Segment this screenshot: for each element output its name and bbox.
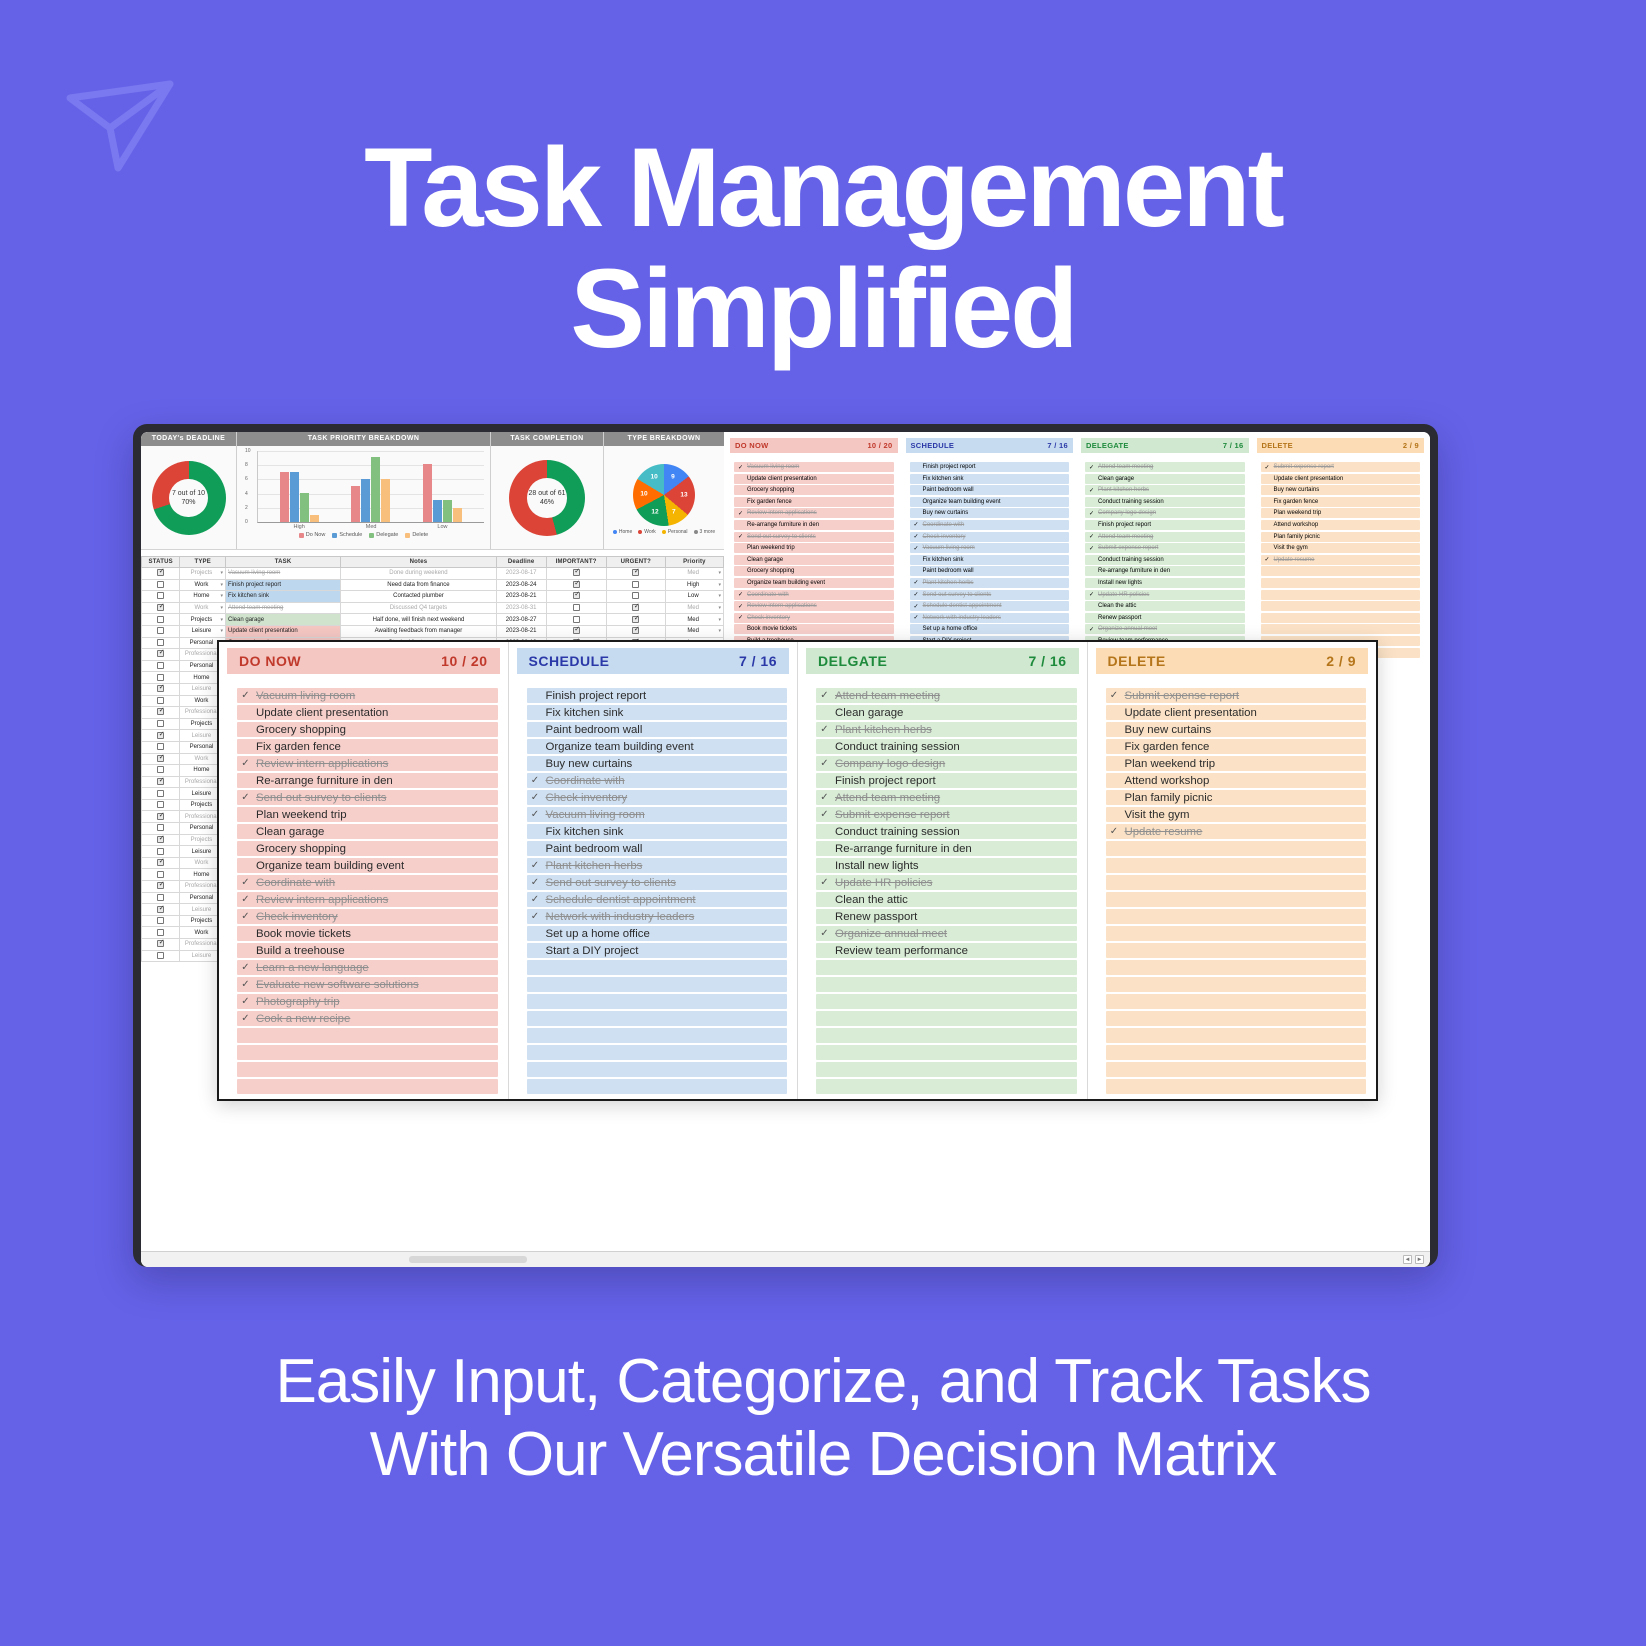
checkbox[interactable] [632, 604, 639, 611]
check-icon[interactable]: ✓ [820, 792, 829, 803]
kanban-item-empty[interactable] [527, 1028, 788, 1043]
kanban-item-empty[interactable] [816, 960, 1077, 975]
cell-status[interactable] [142, 730, 180, 742]
kanban-item[interactable]: Grocery shopping [237, 841, 498, 856]
col-header-task[interactable]: TASK [226, 557, 341, 568]
check-icon: ✓ [738, 533, 744, 540]
kanban-item-empty[interactable] [237, 1028, 498, 1043]
kanban-bg-item: ✓Review intern applications [734, 601, 894, 611]
cell-urgent[interactable] [606, 568, 665, 580]
cell-priority[interactable]: Low▾ [665, 591, 723, 603]
checkbox[interactable] [157, 836, 164, 843]
kanban-item-empty[interactable] [816, 1079, 1077, 1094]
cell-priority[interactable]: Med▾ [665, 602, 723, 614]
chevron-down-icon[interactable]: ▾ [221, 605, 224, 611]
cell-status[interactable] [142, 834, 180, 846]
kanban-item-label: Update client presentation [256, 707, 388, 719]
kanban-item-empty[interactable] [816, 977, 1077, 992]
chevron-down-icon[interactable]: ▾ [718, 605, 721, 611]
kanban-item[interactable]: ✓Vacuum living room [237, 688, 498, 703]
cell-status[interactable] [142, 672, 180, 684]
kanban-item[interactable]: ✓Send out survey to clients [237, 790, 498, 805]
checkbox[interactable] [573, 616, 580, 623]
kanban-item[interactable]: ✓Company logo design [816, 756, 1077, 771]
kanban-item-empty[interactable] [237, 1079, 498, 1094]
cell-status[interactable] [142, 857, 180, 869]
cell-status[interactable] [142, 846, 180, 858]
chevron-down-icon[interactable]: ▾ [718, 593, 721, 599]
check-icon: ✓ [1265, 464, 1271, 471]
check-icon[interactable]: ✓ [820, 877, 829, 888]
cell-priority[interactable]: High▾ [665, 579, 723, 591]
kanban-item-empty[interactable] [816, 1062, 1077, 1077]
check-icon[interactable]: ✓ [1110, 826, 1119, 837]
checkbox[interactable] [157, 627, 164, 634]
table-row[interactable]: Projects▾Vacuum living roomDone during w… [142, 568, 724, 580]
checkbox[interactable] [157, 790, 164, 797]
checkbox[interactable] [157, 766, 164, 773]
kanban-item[interactable]: Buy new curtains [527, 756, 788, 771]
cell-deadline[interactable]: 2023-08-21 [496, 625, 546, 637]
kanban-item-empty[interactable] [1106, 926, 1367, 941]
cell-task[interactable]: Clean garage [226, 614, 341, 626]
kanban-item[interactable]: ✓Check inventory [527, 790, 788, 805]
cell-priority[interactable]: Med▾ [665, 625, 723, 637]
kanban-item[interactable]: ✓Coordinate with [237, 875, 498, 890]
kanban-item-empty[interactable] [816, 994, 1077, 1009]
cell-task[interactable]: Finish project report [226, 579, 341, 591]
chevron-down-icon[interactable]: ▾ [221, 582, 224, 588]
kanban-item-empty[interactable] [1106, 1028, 1367, 1043]
cell-type[interactable]: Work▾ [180, 602, 226, 614]
checkbox[interactable] [157, 929, 164, 936]
sheet-tab-strip[interactable]: ◄ ► [141, 1251, 1430, 1267]
chevron-down-icon[interactable]: ▾ [718, 582, 721, 588]
table-row[interactable]: Projects▾Clean garageHalf done, will fin… [142, 614, 724, 626]
kanban-item-empty[interactable] [1106, 858, 1367, 873]
cell-type[interactable]: Work▾ [180, 579, 226, 591]
check-icon: ✓ [1089, 464, 1095, 471]
kanban-item-empty[interactable] [237, 1045, 498, 1060]
col-header-important[interactable]: IMPORTANT? [546, 557, 606, 568]
kanban-bg-item-label: Company logo design [1098, 510, 1156, 516]
check-icon[interactable]: ✓ [241, 911, 250, 922]
kanban-item[interactable]: ✓Attend team meeting [816, 790, 1077, 805]
cell-notes[interactable]: Half done, will finish next weekend [341, 614, 497, 626]
checkbox[interactable] [632, 569, 639, 576]
cell-type[interactable]: Leisure▾ [180, 625, 226, 637]
kanban-item[interactable]: Clean garage [237, 824, 498, 839]
checkbox[interactable] [157, 894, 164, 901]
checkbox[interactable] [157, 592, 164, 599]
scroll-right-icon[interactable]: ► [1415, 1255, 1424, 1264]
cell-task[interactable]: Update client presentation [226, 625, 341, 637]
cell-notes[interactable]: Awaiting feedback from manager [341, 625, 497, 637]
cell-status[interactable] [142, 753, 180, 765]
checkbox[interactable] [157, 616, 164, 623]
cell-status[interactable] [142, 568, 180, 580]
check-icon[interactable]: ✓ [531, 775, 540, 786]
check-icon[interactable]: ✓ [241, 894, 250, 905]
scroll-left-icon[interactable]: ◄ [1403, 1255, 1412, 1264]
kanban-item[interactable]: ✓Review intern applications [237, 892, 498, 907]
kanban-item[interactable]: Paint bedroom wall [527, 722, 788, 737]
kanban-item-empty[interactable] [1106, 994, 1367, 1009]
decision-matrix-popup[interactable]: DO NOW10 / 20✓Vacuum living roomUpdate c… [217, 640, 1378, 1101]
kanban-item[interactable]: ✓Send out survey to clients [527, 875, 788, 890]
chevron-down-icon[interactable]: ▾ [718, 570, 721, 576]
cell-deadline[interactable]: 2023-08-24 [496, 579, 546, 591]
kanban-item[interactable]: Fix kitchen sink [527, 705, 788, 720]
checkbox[interactable] [632, 616, 639, 623]
kanban-item[interactable]: Renew passport [816, 909, 1077, 924]
kanban-item[interactable]: Clean garage [816, 705, 1077, 720]
table-row[interactable]: Work▾Attend team meetingDiscussed Q4 tar… [142, 602, 724, 614]
checkbox[interactable] [157, 871, 164, 878]
kanban-item[interactable]: Set up a home office [527, 926, 788, 941]
cell-important[interactable] [546, 625, 606, 637]
cell-important[interactable] [546, 614, 606, 626]
kanban-item[interactable]: ✓Attend team meeting [816, 688, 1077, 703]
chevron-down-icon[interactable]: ▾ [221, 617, 224, 623]
kanban-bg-item-label: Buy new curtains [923, 510, 969, 516]
kanban-item-empty[interactable] [237, 1062, 498, 1077]
kanban-item-empty[interactable] [816, 1011, 1077, 1026]
checkbox[interactable] [573, 604, 580, 611]
cell-type[interactable]: Home▾ [180, 591, 226, 603]
check-icon[interactable]: ✓ [820, 690, 829, 701]
cell-type[interactable]: Projects▾ [180, 614, 226, 626]
cell-status[interactable] [142, 579, 180, 591]
check-icon[interactable]: ✓ [241, 979, 250, 990]
cell-urgent[interactable] [606, 602, 665, 614]
kanban-item-label: Fix garden fence [1125, 741, 1210, 753]
cell-urgent[interactable] [606, 625, 665, 637]
kanban-item[interactable]: ✓Cook a new recipe [237, 1011, 498, 1026]
kanban-item[interactable]: Review team performance [816, 943, 1077, 958]
cell-deadline[interactable]: 2023-08-17 [496, 568, 546, 580]
kanban-item[interactable]: Conduct training session [816, 739, 1077, 754]
kanban-item[interactable]: Re-arrange furniture in den [237, 773, 498, 788]
checkbox[interactable] [157, 685, 164, 692]
cell-status[interactable] [142, 869, 180, 881]
cell-status[interactable] [142, 649, 180, 661]
kanban-item-label: Book movie tickets [256, 928, 351, 940]
kanban-column-dl[interactable]: DELETE2 / 9✓Submit expense reportUpdate … [1088, 642, 1377, 1099]
kanban-item[interactable]: Buy new curtains [1106, 722, 1367, 737]
cell-status[interactable] [142, 602, 180, 614]
col-header-type[interactable]: TYPE [180, 557, 226, 568]
kanban-item[interactable]: Organize team building event [527, 739, 788, 754]
check-icon[interactable]: ✓ [820, 928, 829, 939]
cell-notes[interactable]: Discussed Q4 targets [341, 602, 497, 614]
kanban-item-empty[interactable] [816, 1045, 1077, 1060]
checkbox[interactable] [573, 627, 580, 634]
panel-task-completion: TASK COMPLETION 28 out of 61 46% [491, 432, 604, 549]
checkbox[interactable] [157, 650, 164, 657]
kanban-item-empty[interactable] [1106, 875, 1367, 890]
kanban-item[interactable]: ✓Submit expense report [1106, 688, 1367, 703]
cell-status[interactable] [142, 788, 180, 800]
cell-status[interactable] [142, 915, 180, 927]
kanban-item[interactable]: ✓Update HR policies [816, 875, 1077, 890]
checkbox[interactable] [573, 569, 580, 576]
checkbox[interactable] [157, 732, 164, 739]
kanban-item-empty[interactable] [1106, 960, 1367, 975]
kanban-item[interactable]: ✓Evaluate new software solutions [237, 977, 498, 992]
kanban-item-empty[interactable] [527, 1045, 788, 1060]
chevron-down-icon[interactable]: ▾ [221, 570, 224, 576]
kanban-item[interactable]: ✓Plant kitchen herbs [527, 858, 788, 873]
kanban-item[interactable]: Grocery shopping [237, 722, 498, 737]
check-icon[interactable]: ✓ [820, 809, 829, 820]
kanban-item-empty[interactable] [1106, 909, 1367, 924]
x-tick-med: Med [366, 524, 377, 530]
check-icon: ✓ [1089, 591, 1095, 598]
cell-status[interactable] [142, 614, 180, 626]
cell-important[interactable] [546, 579, 606, 591]
kanban-column-de[interactable]: DELGATE7 / 16✓Attend team meetingClean g… [798, 642, 1088, 1099]
checkbox[interactable] [157, 639, 164, 646]
cell-status[interactable] [142, 660, 180, 672]
checkbox[interactable] [157, 859, 164, 866]
kanban-item[interactable]: ✓Learn a new language [237, 960, 498, 975]
kanban-item[interactable]: ✓Organize annual meet [816, 926, 1077, 941]
cell-notes[interactable]: Need data from finance [341, 579, 497, 591]
checkbox[interactable] [632, 627, 639, 634]
kanban-item[interactable]: Clean the attic [816, 892, 1077, 907]
kanban-item[interactable]: Paint bedroom wall [527, 841, 788, 856]
kanban-item-empty[interactable] [1106, 1011, 1367, 1026]
cell-task[interactable]: Attend team meeting [226, 602, 341, 614]
cell-task[interactable]: Fix kitchen sink [226, 591, 341, 603]
kanban-item[interactable]: ✓Coordinate with [527, 773, 788, 788]
check-icon[interactable]: ✓ [531, 809, 540, 820]
kanban-item[interactable]: ✓Photography trip [237, 994, 498, 1009]
check-icon[interactable]: ✓ [241, 792, 250, 803]
checkbox[interactable] [573, 592, 580, 599]
kanban-bg-item-label: Install new lights [1098, 580, 1142, 586]
checkbox[interactable] [157, 662, 164, 669]
cell-status[interactable] [142, 776, 180, 788]
cell-status[interactable] [142, 811, 180, 823]
checkbox[interactable] [157, 940, 164, 947]
kanban-column-sc[interactable]: SCHEDULE7 / 16Finish project reportFix k… [509, 642, 799, 1099]
kanban-item-empty[interactable] [1106, 1079, 1367, 1094]
checkbox[interactable] [157, 604, 164, 611]
kanban-item-empty[interactable] [1106, 977, 1367, 992]
kanban-bg-item: ✓Submit expense report [1085, 543, 1245, 553]
kanban-item[interactable]: Book movie tickets [237, 926, 498, 941]
chevron-down-icon[interactable]: ▾ [718, 628, 721, 634]
cell-important[interactable] [546, 568, 606, 580]
cell-task[interactable]: Vacuum living room [226, 568, 341, 580]
col-header-status[interactable]: STATUS [142, 557, 180, 568]
check-icon[interactable]: ✓ [531, 894, 540, 905]
cell-status[interactable] [142, 892, 180, 904]
kanban-item-empty[interactable] [527, 1079, 788, 1094]
check-icon[interactable]: ✓ [820, 724, 829, 735]
kanban-item[interactable]: Plan weekend trip [1106, 756, 1367, 771]
kanban-item-empty[interactable] [527, 994, 788, 1009]
check-icon[interactable]: ✓ [531, 877, 540, 888]
col-header-priority[interactable]: Priority [665, 557, 723, 568]
kanban-item-empty[interactable] [527, 1062, 788, 1077]
cell-status[interactable] [142, 625, 180, 637]
kanban-item[interactable]: Re-arrange furniture in den [816, 841, 1077, 856]
cell-deadline[interactable]: 2023-08-27 [496, 614, 546, 626]
kanban-item-label: Set up a home office [546, 928, 650, 940]
kanban-item[interactable]: Fix garden fence [1106, 739, 1367, 754]
checkbox[interactable] [157, 952, 164, 959]
kanban-item[interactable]: Visit the gym [1106, 807, 1367, 822]
kanban-item[interactable]: Fix kitchen sink [527, 824, 788, 839]
kanban-item-empty[interactable] [527, 977, 788, 992]
kanban-item[interactable]: Organize team building event [237, 858, 498, 873]
cell-status[interactable] [142, 718, 180, 730]
cell-status[interactable] [142, 939, 180, 951]
checkbox[interactable] [157, 824, 164, 831]
table-row[interactable]: Work▾Finish project reportNeed data from… [142, 579, 724, 591]
cell-important[interactable] [546, 602, 606, 614]
check-icon[interactable]: ✓ [531, 860, 540, 871]
checkbox[interactable] [157, 581, 164, 588]
check-icon[interactable]: ✓ [241, 690, 250, 701]
kanban-item[interactable]: ✓Update resume [1106, 824, 1367, 839]
kanban-item[interactable]: ✓Vacuum living room [527, 807, 788, 822]
col-header-notes[interactable]: Notes [341, 557, 497, 568]
cell-status[interactable] [142, 950, 180, 962]
check-icon[interactable]: ✓ [241, 1013, 250, 1024]
check-icon[interactable]: ✓ [531, 792, 540, 803]
checkbox[interactable] [632, 581, 639, 588]
check-icon[interactable]: ✓ [1110, 690, 1119, 701]
checkbox[interactable] [157, 848, 164, 855]
checkbox[interactable] [157, 906, 164, 913]
kanban-item[interactable]: Finish project report [527, 688, 788, 703]
cell-status[interactable] [142, 591, 180, 603]
check-icon[interactable]: ✓ [241, 758, 250, 769]
checkbox[interactable] [573, 581, 580, 588]
kanban-item-empty[interactable] [1106, 1062, 1367, 1077]
kanban-item-empty[interactable] [527, 960, 788, 975]
cell-notes[interactable]: Done during weekend [341, 568, 497, 580]
cell-urgent[interactable] [606, 591, 665, 603]
cell-status[interactable] [142, 695, 180, 707]
kanban-item[interactable]: Start a DIY project [527, 943, 788, 958]
horizontal-scrollbar[interactable] [409, 1256, 527, 1263]
checkbox[interactable] [157, 882, 164, 889]
checkbox[interactable] [157, 755, 164, 762]
kanban-item[interactable]: Attend workshop [1106, 773, 1367, 788]
check-icon[interactable]: ✓ [241, 962, 250, 973]
cell-notes[interactable]: Contacted plumber [341, 591, 497, 603]
cell-status[interactable] [142, 927, 180, 939]
kanban-item[interactable]: Plan weekend trip [237, 807, 498, 822]
kanban-item-empty[interactable] [1106, 841, 1367, 856]
kanban-item[interactable]: ✓Network with industry leaders [527, 909, 788, 924]
kanban-column-do[interactable]: DO NOW10 / 20✓Vacuum living roomUpdate c… [219, 642, 509, 1099]
kanban-bg-item-label: Schedule dentist appointment [923, 603, 1002, 609]
cell-status[interactable] [142, 823, 180, 835]
checkbox[interactable] [157, 697, 164, 704]
cell-status[interactable] [142, 683, 180, 695]
check-icon[interactable]: ✓ [820, 758, 829, 769]
col-header-urgent[interactable]: URGENT? [606, 557, 665, 568]
checkbox[interactable] [632, 592, 639, 599]
kanban-item[interactable]: Update client presentation [237, 705, 498, 720]
kanban-item[interactable]: Finish project report [816, 773, 1077, 788]
col-header-deadline[interactable]: Deadline [496, 557, 546, 568]
table-row[interactable]: Home▾Fix kitchen sinkContacted plumber20… [142, 591, 724, 603]
checkbox[interactable] [157, 813, 164, 820]
cell-status[interactable] [142, 637, 180, 649]
cell-urgent[interactable] [606, 579, 665, 591]
check-icon[interactable]: ✓ [241, 877, 250, 888]
kanban-item[interactable]: ✓Review intern applications [237, 756, 498, 771]
cell-priority[interactable]: Med▾ [665, 614, 723, 626]
kanban-item[interactable]: Update client presentation [1106, 705, 1367, 720]
kanban-item-empty[interactable] [1106, 1045, 1367, 1060]
kanban-item[interactable]: Install new lights [816, 858, 1077, 873]
kanban-item-empty[interactable] [816, 1028, 1077, 1043]
check-icon[interactable]: ✓ [531, 911, 540, 922]
cell-status[interactable] [142, 799, 180, 811]
cell-status[interactable] [142, 741, 180, 753]
cell-deadline[interactable]: 2023-08-21 [496, 591, 546, 603]
kanban-item-empty[interactable] [1106, 943, 1367, 958]
cell-deadline[interactable]: 2023-08-31 [496, 602, 546, 614]
checkbox[interactable] [157, 674, 164, 681]
checkbox[interactable] [157, 569, 164, 576]
checkbox[interactable] [157, 743, 164, 750]
checkbox[interactable] [157, 720, 164, 727]
cell-status[interactable] [142, 881, 180, 893]
chevron-down-icon[interactable]: ▾ [221, 593, 224, 599]
kanban-item[interactable]: Fix garden fence [237, 739, 498, 754]
kanban-item[interactable]: ✓Check inventory [237, 909, 498, 924]
check-icon[interactable]: ✓ [241, 996, 250, 1007]
cell-type[interactable]: Projects▾ [180, 568, 226, 580]
checkbox[interactable] [157, 917, 164, 924]
cell-priority[interactable]: Med▾ [665, 568, 723, 580]
kanban-item[interactable]: ✓Submit expense report [816, 807, 1077, 822]
kanban-item[interactable]: ✓Schedule dentist appointment [527, 892, 788, 907]
kanban-item-empty[interactable] [1106, 892, 1367, 907]
kanban-item[interactable]: Conduct training session [816, 824, 1077, 839]
checkbox[interactable] [157, 778, 164, 785]
table-row[interactable]: Leisure▾Update client presentationAwaiti… [142, 625, 724, 637]
kanban-item[interactable]: Build a treehouse [237, 943, 498, 958]
kanban-item-empty[interactable] [527, 1011, 788, 1026]
kanban-bg-item-label: Set up a home office [923, 626, 978, 632]
kanban-bg-item-label: Clean garage [747, 557, 783, 563]
cell-status[interactable] [142, 765, 180, 777]
checkbox[interactable] [157, 708, 164, 715]
checkbox[interactable] [157, 801, 164, 808]
kanban-item-label: Evaluate new software solutions [256, 979, 419, 991]
chevron-down-icon[interactable]: ▾ [221, 628, 224, 634]
kanban-bg-header-de: DELEGATE7 / 16 [1081, 438, 1249, 453]
chevron-down-icon[interactable]: ▾ [718, 617, 721, 623]
kanban-item[interactable]: Plan family picnic [1106, 790, 1367, 805]
cell-status[interactable] [142, 904, 180, 916]
cell-important[interactable] [546, 591, 606, 603]
cell-status[interactable] [142, 707, 180, 719]
completion-donut-chart: 28 out of 61 46% [509, 460, 585, 536]
cell-urgent[interactable] [606, 614, 665, 626]
kanban-item[interactable]: ✓Plant kitchen herbs [816, 722, 1077, 737]
